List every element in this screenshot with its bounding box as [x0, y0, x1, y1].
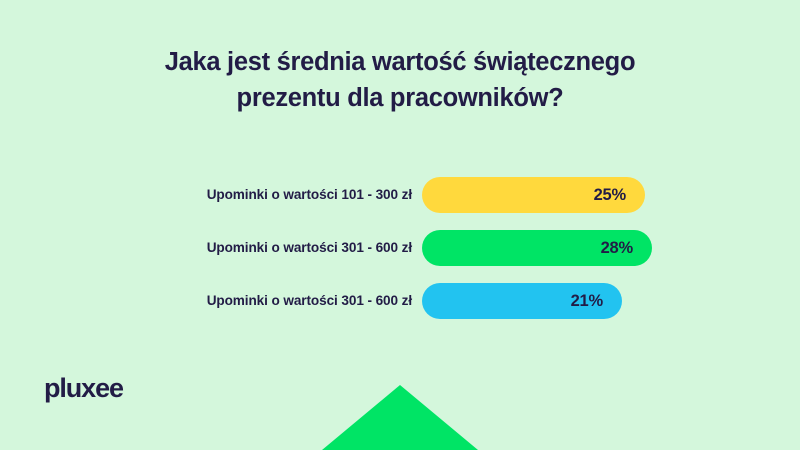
bar-fill-green: 28% — [422, 230, 652, 266]
pluxee-logo: pluxee — [44, 373, 123, 403]
bar-fill-blue: 21% — [422, 283, 622, 319]
bar-chart: Upominki o wartości 101 - 300 zł 25% Upo… — [0, 177, 800, 336]
bar-category-label: Upominki o wartości 301 - 600 zł — [0, 230, 412, 266]
bar-value-label: 25% — [594, 177, 626, 213]
page-title: Jaka jest średnia wartość świątecznego p… — [0, 44, 800, 116]
bar-category-label: Upominki o wartości 301 - 600 zł — [0, 283, 412, 319]
chart-bar-row: Upominki o wartości 301 - 600 zł 21% — [0, 283, 800, 319]
bar-value-label: 28% — [601, 230, 633, 266]
bar-category-label: Upominki o wartości 101 - 300 zł — [0, 177, 412, 213]
chart-bar-row: Upominki o wartości 301 - 600 zł 28% — [0, 230, 800, 266]
page-title-line-2: prezentu dla pracowników? — [0, 80, 800, 116]
chart-bar-row: Upominki o wartości 101 - 300 zł 25% — [0, 177, 800, 213]
infographic-slide: Jaka jest średnia wartość świątecznego p… — [0, 0, 800, 450]
bar-fill-yellow: 25% — [422, 177, 645, 213]
bar-track: 25% — [422, 177, 645, 213]
page-title-line-1: Jaka jest średnia wartość świątecznego — [0, 44, 800, 80]
bar-track: 28% — [422, 230, 652, 266]
bar-track: 21% — [422, 283, 622, 319]
bar-value-label: 21% — [571, 283, 603, 319]
